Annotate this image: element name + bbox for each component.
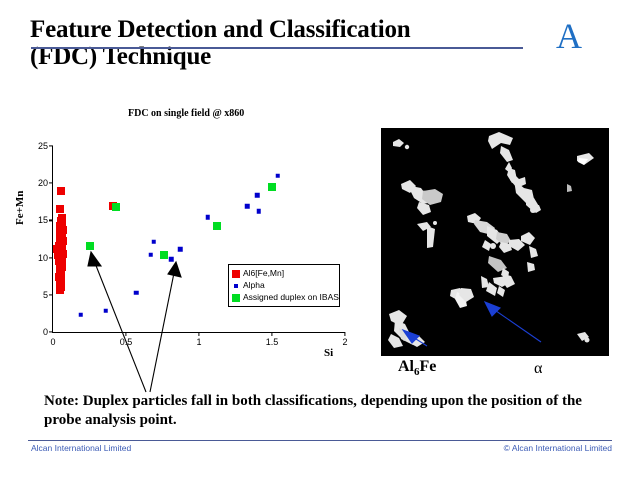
chart-data-point xyxy=(86,242,94,250)
chart-data-point xyxy=(56,286,64,294)
scatter-chart: FDC on single field @ x860 Fe+Mn Si Al6[… xyxy=(12,105,362,365)
chart-data-point xyxy=(134,290,139,295)
title-divider xyxy=(31,47,523,49)
chart-data-point xyxy=(178,247,183,252)
chart-data-point xyxy=(78,312,83,317)
chart-x-tick-label: 1.5 xyxy=(266,337,279,347)
chart-legend-swatch xyxy=(232,294,240,302)
chart-data-point xyxy=(112,203,120,211)
footer-right-text: © Alcan International Limited xyxy=(504,443,612,453)
chart-x-tick-label: 2 xyxy=(342,337,347,347)
chart-data-point xyxy=(276,174,281,179)
label-fe-text: Fe xyxy=(420,358,437,375)
micrograph-svg xyxy=(381,128,609,356)
chart-x-tick-label: 1 xyxy=(196,337,201,347)
label-al-text: Al xyxy=(398,358,414,375)
micrograph-label-al6fe: Al6Fe xyxy=(398,358,436,378)
chart-data-point xyxy=(268,183,276,191)
chart-data-point xyxy=(169,257,174,262)
chart-legend-swatch xyxy=(232,270,240,278)
footer-divider xyxy=(28,440,612,441)
footer-left-text: Alcan International Limited xyxy=(31,443,131,453)
page-title: Feature Detection and Classification (FD… xyxy=(30,16,510,70)
chart-x-tick-label: 0.5 xyxy=(120,337,133,347)
chart-data-point xyxy=(149,252,154,257)
chart-y-tick-mark xyxy=(49,220,53,221)
chart-data-point xyxy=(255,193,260,198)
chart-x-tick-mark xyxy=(125,332,126,336)
chart-y-tick-mark xyxy=(49,294,53,295)
page-title-line1: Feature Detection and Classification xyxy=(30,16,510,43)
chart-legend-label: Assigned duplex on IBAS xyxy=(243,293,339,302)
chart-data-point xyxy=(257,209,262,214)
chart-y-tick-mark xyxy=(49,183,53,184)
chart-plot-area: Al6[Fe,Mn]AlphaAssigned duplex on IBAS 0… xyxy=(52,146,345,333)
micrograph-label-alpha: α xyxy=(534,360,542,378)
chart-title: FDC on single field @ x860 xyxy=(128,108,244,119)
chart-data-point xyxy=(151,240,156,245)
chart-data-point xyxy=(56,205,64,213)
chart-y-tick-mark xyxy=(49,145,53,146)
chart-y-tick-mark xyxy=(49,257,53,258)
chart-data-point xyxy=(206,215,211,220)
chart-legend-item: Al6[Fe,Mn] xyxy=(232,268,336,279)
note-text: Note: Duplex particles fall in both clas… xyxy=(44,392,614,430)
chart-legend-label: Alpha xyxy=(243,281,265,290)
chart-data-point xyxy=(57,187,65,195)
chart-legend-swatch xyxy=(234,284,238,288)
chart-legend-label: Al6[Fe,Mn] xyxy=(243,269,284,278)
chart-data-point xyxy=(103,309,108,314)
micrograph-image xyxy=(381,128,609,356)
chart-y-tick-mark xyxy=(49,331,53,332)
chart-data-point xyxy=(245,204,250,209)
chart-x-tick-mark xyxy=(271,332,272,336)
chart-x-axis-label: Si xyxy=(324,347,333,359)
chart-legend-item: Alpha xyxy=(232,280,336,291)
alcan-logo-a: A xyxy=(556,18,582,54)
chart-x-tick-mark xyxy=(198,332,199,336)
chart-data-point xyxy=(160,251,168,259)
chart-legend-item: Assigned duplex on IBAS xyxy=(232,292,336,303)
chart-legend: Al6[Fe,Mn]AlphaAssigned duplex on IBAS xyxy=(228,264,340,307)
chart-x-tick-mark xyxy=(344,332,345,336)
slide-root: Feature Detection and Classification (FD… xyxy=(0,0,640,480)
chart-x-tick-label: 0 xyxy=(50,337,55,347)
chart-data-point xyxy=(213,222,221,230)
